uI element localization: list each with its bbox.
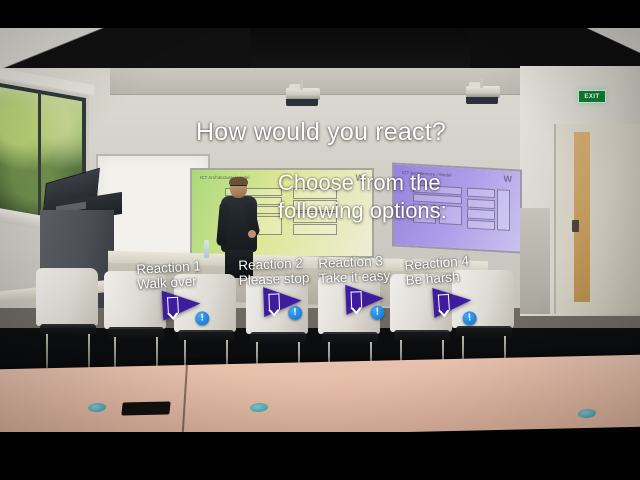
letterbox-top: [0, 0, 640, 28]
chair-leg: [46, 334, 48, 368]
letterbox-bottom: [0, 432, 640, 480]
presenter-hand: [248, 230, 256, 238]
reaction-option-3-badge-label: !: [376, 307, 380, 317]
presenter-hair: [229, 177, 248, 185]
right-wall-panel: [520, 208, 550, 314]
classroom-door: [554, 124, 640, 314]
projection-right-diagram: [404, 179, 512, 245]
bookmark-icon: [437, 294, 449, 311]
bookmark-icon: [268, 293, 280, 309]
ceiling-projector-right: [466, 86, 500, 98]
table-cable-port: [121, 401, 170, 415]
projector-mount-right: [480, 78, 483, 88]
projection-left-logo: W: [356, 173, 365, 183]
ceiling-projector-left: [286, 88, 320, 100]
window-mullion: [38, 92, 41, 221]
reaction-option-2-badge-label: !: [293, 308, 297, 318]
projection-right-logo: W: [504, 174, 513, 184]
presenter-glasses: [230, 185, 247, 190]
bookmark-icon: [350, 291, 362, 307]
door-wood-panel: [574, 132, 590, 302]
exit-sign: EXIT: [578, 90, 606, 103]
chair-leg: [88, 334, 90, 368]
projection-screen-right: ICT Architecture / Model W: [392, 162, 522, 253]
projection-right-title: ICT Architecture / Model: [402, 170, 452, 178]
reaction-option-1-badge-label: !: [200, 313, 204, 323]
bookmark-icon: [167, 297, 179, 314]
projector-mount-left: [300, 80, 303, 90]
ceiling-bevel-right: [470, 28, 640, 70]
classroom-photo-background: ICT Architecture / Model W ICT Architect…: [0, 28, 640, 432]
vr-scene-viewport: ICT Architecture / Model W ICT Architect…: [0, 0, 640, 480]
exit-sign-label: EXIT: [584, 94, 599, 100]
chair-backrest: [36, 268, 98, 326]
reaction-option-4-badge-label: !: [468, 313, 472, 323]
door-handle: [572, 220, 579, 232]
water-bottle: [204, 240, 209, 258]
